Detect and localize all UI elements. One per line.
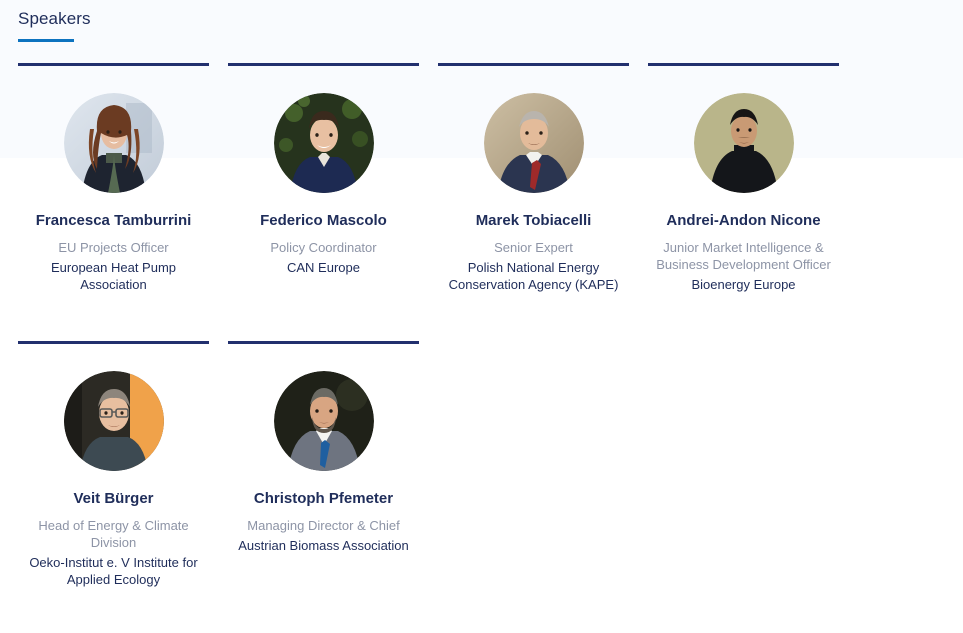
title-accent-underline <box>18 39 74 42</box>
speaker-card[interactable]: Federico Mascolo Policy Coordinator CAN … <box>228 63 419 293</box>
speaker-card[interactable]: Marek Tobiacelli Senior Expert Polish Na… <box>438 63 629 293</box>
speaker-role: Managing Director & Chief <box>228 517 419 534</box>
avatar <box>64 371 164 471</box>
speaker-role: Head of Energy & Climate Division <box>18 517 209 551</box>
speaker-card-body: Francesca Tamburrini EU Projects Officer… <box>18 66 209 293</box>
avatar <box>274 93 374 193</box>
speaker-name: Andrei-Andon Nicone <box>648 211 839 230</box>
avatar <box>484 93 584 193</box>
speaker-card-body: Marek Tobiacelli Senior Expert Polish Na… <box>438 66 629 293</box>
speakers-page: Speakers <box>0 0 963 588</box>
speaker-organization: Bioenergy Europe <box>648 276 839 293</box>
speaker-organization: Austrian Biomass Association <box>228 537 419 554</box>
speaker-organization: CAN Europe <box>228 259 419 276</box>
speaker-name: Federico Mascolo <box>228 211 419 230</box>
speaker-card[interactable]: Andrei-Andon Nicone Junior Market Intell… <box>648 63 839 293</box>
speaker-role: EU Projects Officer <box>18 239 209 256</box>
speaker-card-body: Federico Mascolo Policy Coordinator CAN … <box>228 66 419 276</box>
speaker-name: Veit Bürger <box>18 489 209 508</box>
speaker-name: Christoph Pfemeter <box>228 489 419 508</box>
section-header: Speakers <box>0 0 963 42</box>
speaker-card[interactable]: Christoph Pfemeter Managing Director & C… <box>228 341 419 588</box>
speaker-organization: Oeko-Institut e. V Institute for Applied… <box>18 554 209 588</box>
speakers-grid: Francesca Tamburrini EU Projects Officer… <box>0 63 898 588</box>
speaker-name: Francesca Tamburrini <box>18 211 209 230</box>
speaker-organization: Polish National Energy Conservation Agen… <box>438 259 629 293</box>
speaker-role: Policy Coordinator <box>228 239 419 256</box>
speaker-card-body: Christoph Pfemeter Managing Director & C… <box>228 344 419 554</box>
speaker-role: Junior Market Intelligence & Business De… <box>648 239 839 273</box>
speaker-card-body: Veit Bürger Head of Energy & Climate Div… <box>18 344 209 588</box>
avatar <box>64 93 164 193</box>
speaker-card[interactable]: Francesca Tamburrini EU Projects Officer… <box>18 63 209 293</box>
page-title: Speakers <box>18 8 963 30</box>
speaker-role: Senior Expert <box>438 239 629 256</box>
speaker-card-body: Andrei-Andon Nicone Junior Market Intell… <box>648 66 839 293</box>
avatar <box>694 93 794 193</box>
speaker-card[interactable]: Veit Bürger Head of Energy & Climate Div… <box>18 341 209 588</box>
avatar <box>274 371 374 471</box>
speaker-name: Marek Tobiacelli <box>438 211 629 230</box>
speaker-organization: European Heat Pump Association <box>18 259 209 293</box>
